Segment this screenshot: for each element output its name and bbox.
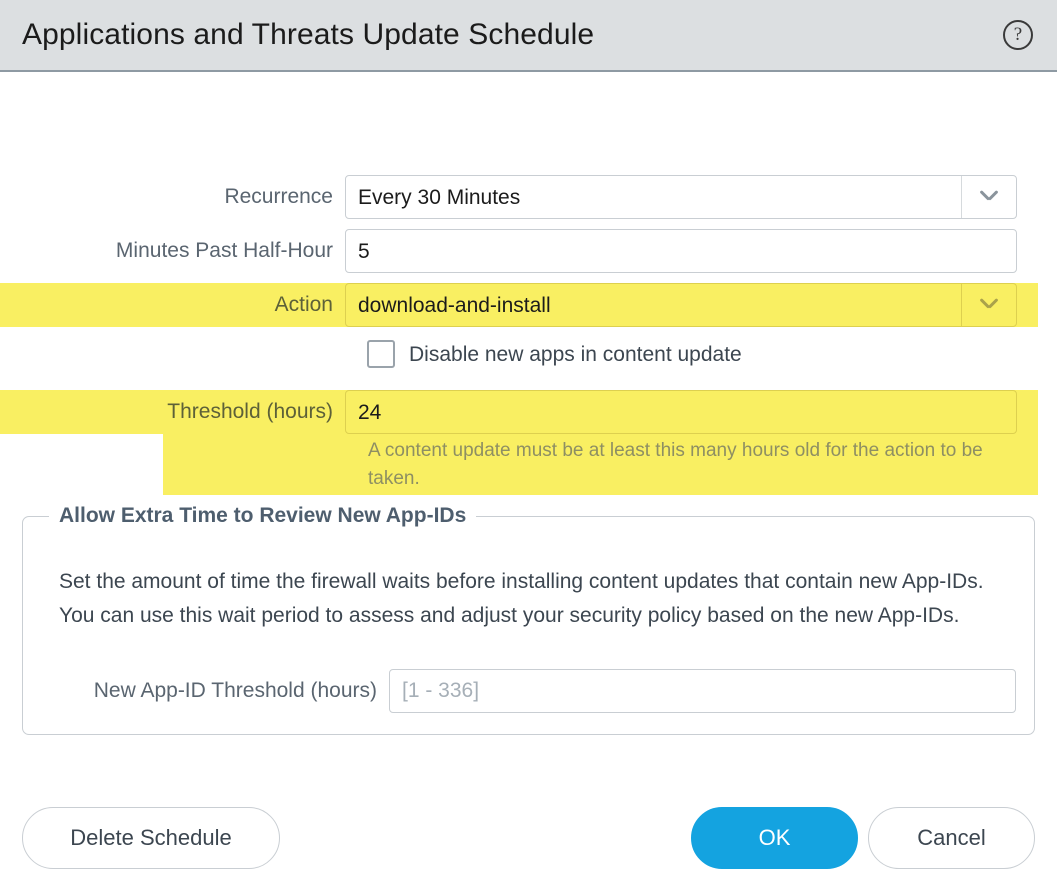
minutes-past-half-hour-label: Minutes Past Half-Hour	[0, 229, 345, 273]
page-title: Applications and Threats Update Schedule	[22, 20, 1003, 50]
update-schedule-dialog: Applications and Threats Update Schedule…	[0, 0, 1057, 828]
minutes-past-half-hour-input[interactable]: 5	[345, 229, 1017, 273]
cancel-button[interactable]: Cancel	[868, 807, 1035, 869]
action-field-wrap: download-and-install	[345, 283, 1017, 327]
disable-new-apps-checkbox-row[interactable]: Disable new apps in content update	[367, 340, 1057, 368]
new-appid-threshold-row: New App-ID Threshold (hours) [1 - 336]	[23, 669, 1034, 713]
recurrence-label: Recurrence	[0, 175, 345, 219]
dialog-titlebar: Applications and Threats Update Schedule…	[0, 0, 1057, 72]
action-row: Action download-and-install	[0, 283, 1057, 327]
disable-new-apps-label: Disable new apps in content update	[409, 344, 742, 365]
fieldset-description: Set the amount of time the firewall wait…	[59, 565, 1004, 633]
threshold-row: Threshold (hours) 24	[0, 390, 1057, 434]
new-appid-threshold-label: New App-ID Threshold (hours)	[23, 669, 389, 713]
new-appid-threshold-input[interactable]: [1 - 336]	[389, 669, 1016, 713]
threshold-value: 24	[358, 402, 381, 423]
action-value: download-and-install	[358, 295, 551, 316]
recurrence-select[interactable]: Every 30 Minutes	[345, 175, 1017, 219]
minutes-past-half-hour-row: Minutes Past Half-Hour 5	[0, 229, 1057, 273]
help-circle-icon[interactable]: ?	[1003, 20, 1033, 50]
minutes-field-wrap: 5	[345, 229, 1017, 273]
recurrence-field-wrap: Every 30 Minutes	[345, 175, 1017, 219]
action-label: Action	[0, 283, 345, 327]
threshold-input[interactable]: 24	[345, 390, 1017, 434]
recurrence-row: Recurrence Every 30 Minutes	[0, 175, 1057, 219]
disable-new-apps-checkbox[interactable]	[367, 340, 395, 368]
recurrence-value: Every 30 Minutes	[358, 187, 520, 208]
ok-button[interactable]: OK	[691, 807, 858, 869]
minutes-past-half-hour-value: 5	[358, 241, 370, 262]
chevron-down-icon[interactable]	[961, 284, 1016, 326]
threshold-label: Threshold (hours)	[0, 390, 345, 434]
action-select[interactable]: download-and-install	[345, 283, 1017, 327]
fieldset-legend: Allow Extra Time to Review New App-IDs	[49, 503, 476, 529]
new-appid-threshold-placeholder: [1 - 336]	[402, 679, 479, 703]
delete-schedule-button[interactable]: Delete Schedule	[22, 807, 280, 869]
allow-extra-time-fieldset: Allow Extra Time to Review New App-IDs S…	[22, 516, 1035, 735]
threshold-field-wrap: 24	[345, 390, 1017, 434]
chevron-down-icon[interactable]	[961, 176, 1016, 218]
threshold-help-text: A content update must be at least this m…	[368, 437, 1008, 493]
disable-new-apps-row: Disable new apps in content update	[0, 340, 1057, 368]
dialog-footer: Delete Schedule OK Cancel	[0, 807, 1057, 871]
